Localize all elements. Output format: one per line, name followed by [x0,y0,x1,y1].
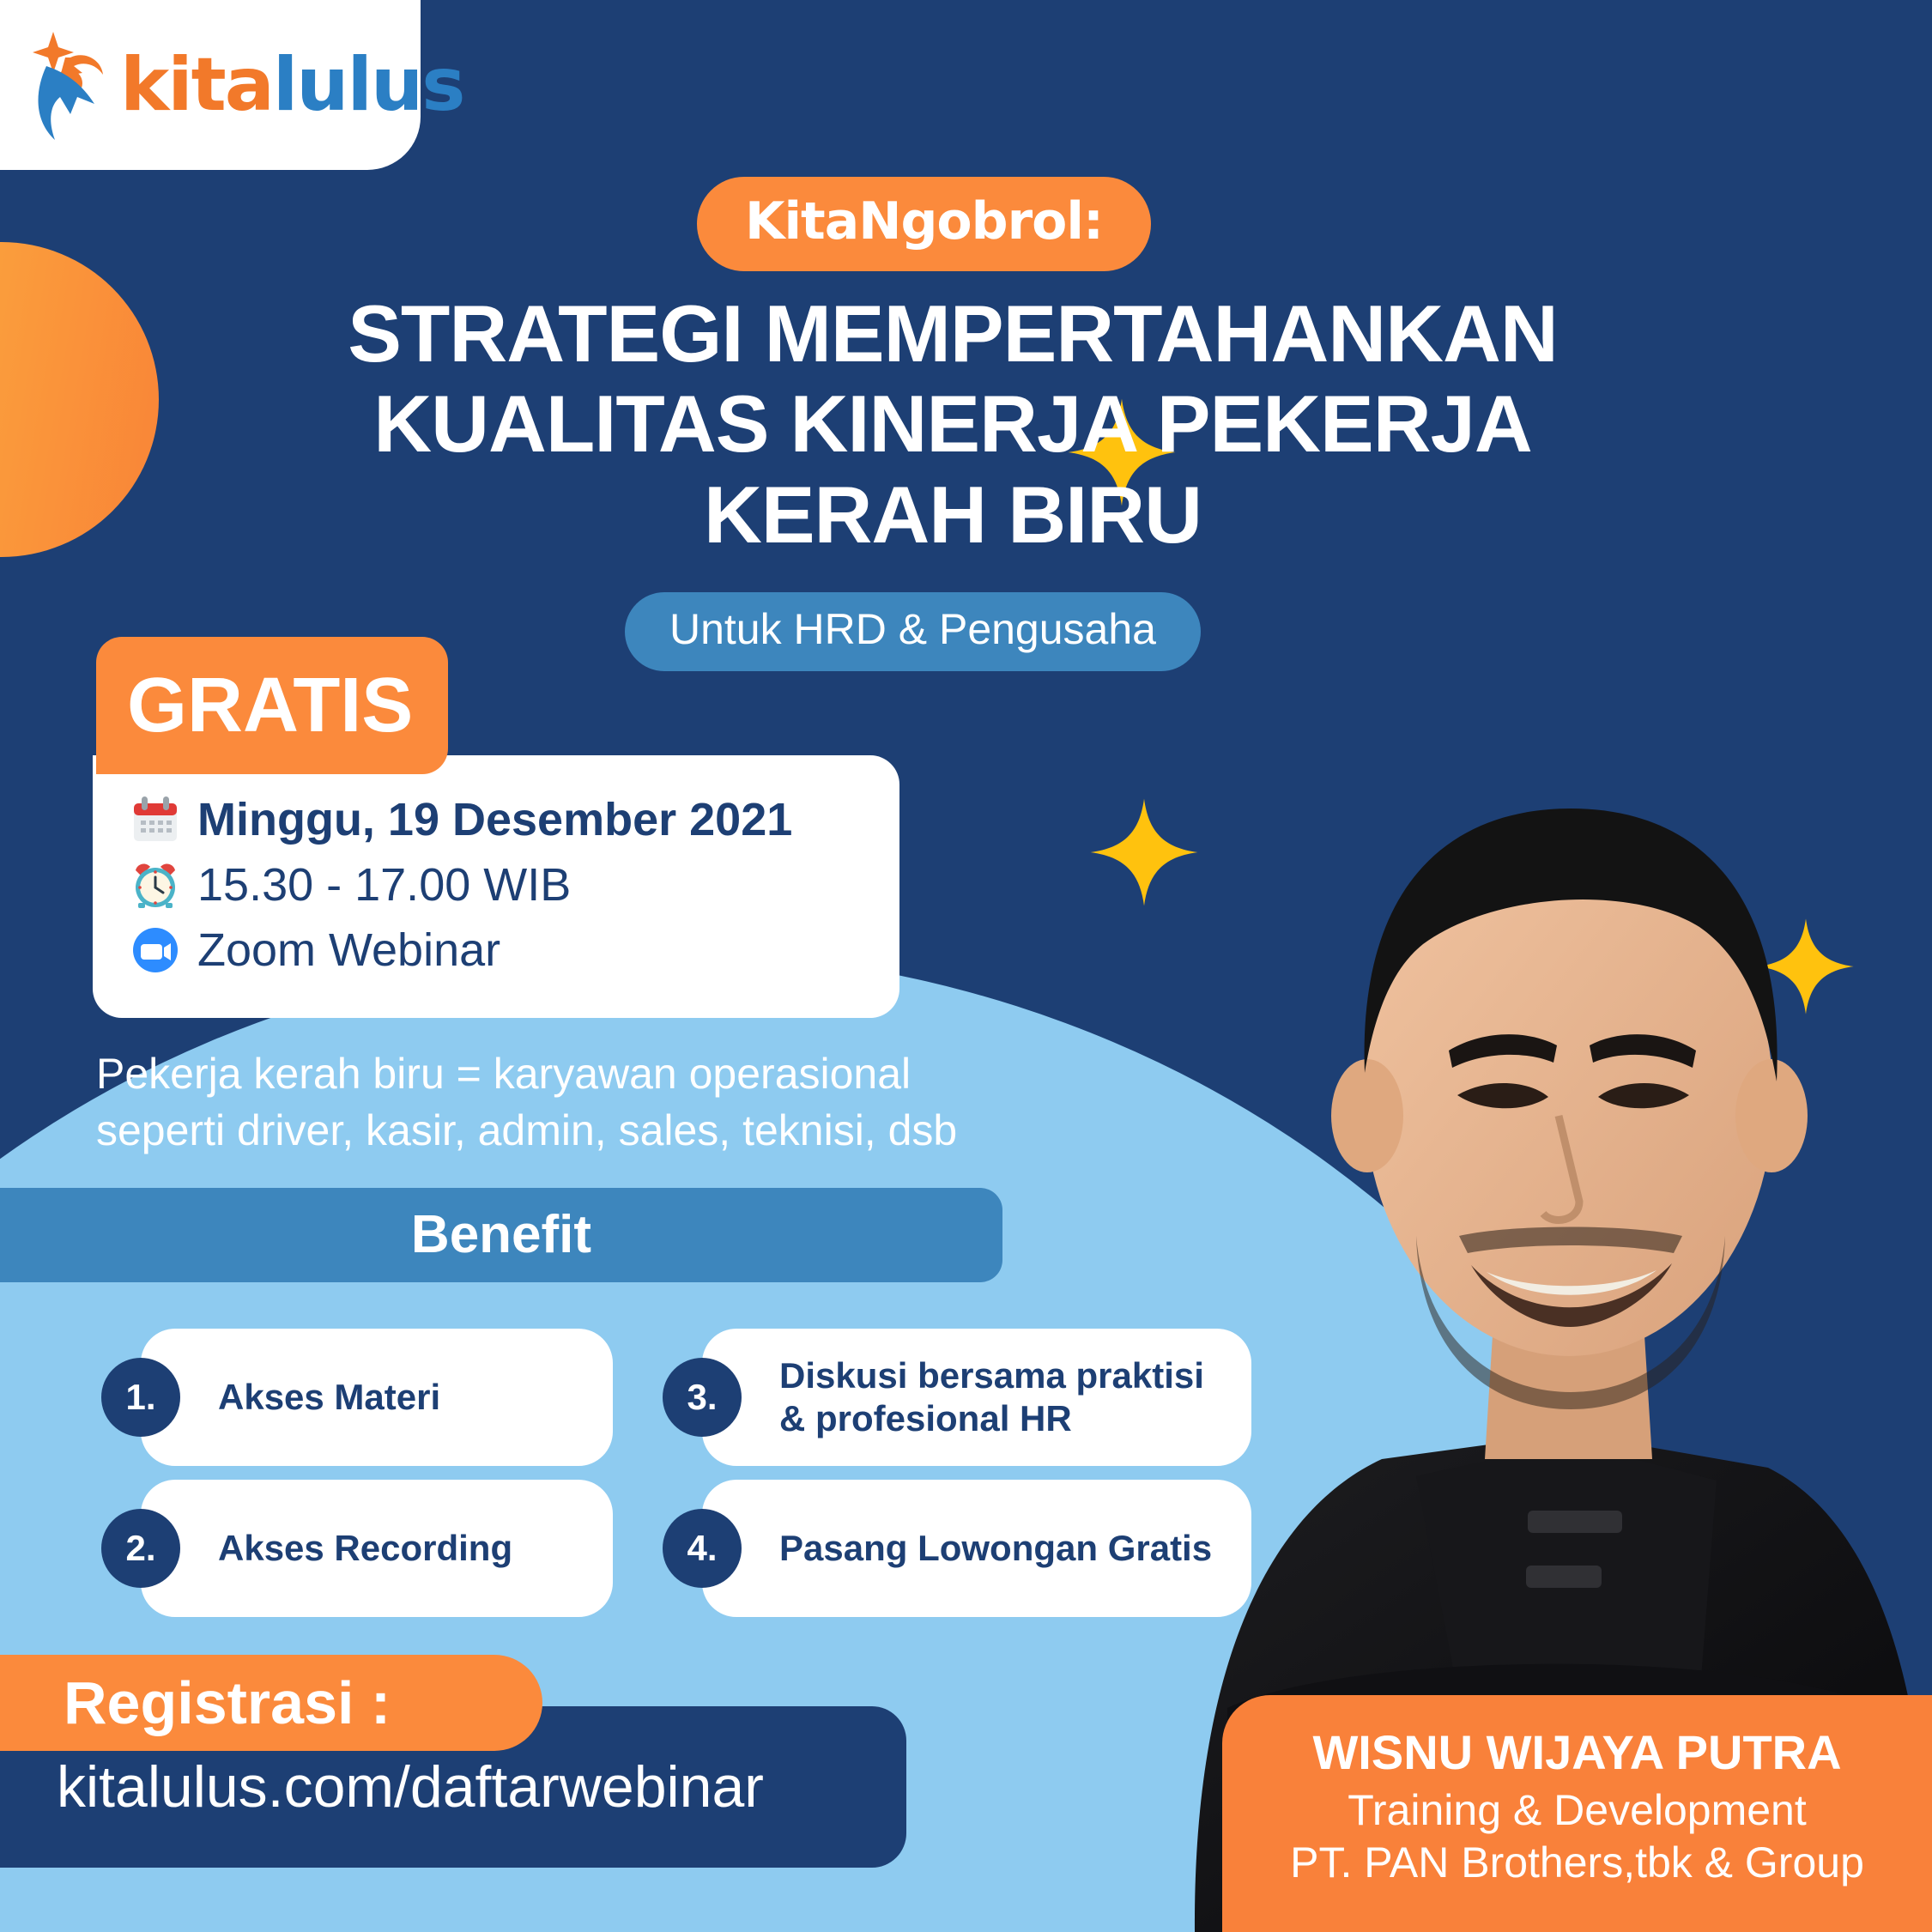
benefit-number-2: 2. [101,1509,180,1588]
webinar-poster: kitalulus KitaNgobrol: STRATEGI MEMPERTA… [0,0,1932,1932]
page-title: STRATEGI MEMPERTAHANKAN KUALITAS KINERJA… [249,288,1656,560]
benefit-heading-label: Benefit [411,1208,591,1262]
logo-text-lulus: lulus [273,42,464,128]
benefit-label-3: Diskusi bersama praktisi & profesional H… [779,1354,1251,1441]
title-line-1: STRATEGI MEMPERTAHANKAN [249,288,1656,379]
benefit-number-4: 4. [663,1509,742,1588]
event-platform-text: Zoom Webinar [197,926,500,975]
series-badge: KitaNgobrol: [697,177,1151,271]
event-info-card: Minggu, 19 Desember 2021 [93,755,899,1018]
event-date-text: Minggu, 19 Desember 2021 [197,796,792,845]
title-line-3: KERAH BIRU [249,469,1656,560]
event-info-row-date: Minggu, 19 Desember 2021 [129,793,899,846]
alarm-clock-icon [129,858,182,911]
calendar-icon [129,793,182,846]
benefit-number-3: 3. [663,1358,742,1437]
event-time-text: 15.30 - 17.00 WIB [197,861,571,910]
description-block: Pekerja kerah biru = karyawan operasiona… [96,1045,1092,1159]
audience-pill: Untuk HRD & Pengusaha [625,592,1201,671]
speaker-name: WISNU WIJAYA PUTRA [1312,1726,1841,1779]
benefit-card-1: 1. Akses Materi [141,1329,613,1466]
orange-circle-decoration [0,242,159,557]
speaker-role: Training & Development [1348,1784,1807,1837]
description-line-1: Pekerja kerah biru = karyawan operasiona… [96,1045,1092,1102]
price-badge-label: GRATIS [127,667,413,744]
speaker-company: PT. PAN Brothers,tbk & Group [1290,1837,1864,1889]
description-line-2: seperti driver, kasir, admin, sales, tek… [96,1102,1092,1159]
brand-logo-bar: kitalulus [0,0,421,170]
event-info-row-platform: Zoom Webinar [129,924,899,977]
title-line-2: KUALITAS KINERJA PEKERJA [249,379,1656,469]
registration-label-badge: Registrasi : [0,1655,542,1751]
price-badge: GRATIS [96,637,448,774]
benefit-number-1: 1. [101,1358,180,1437]
registration-label: Registrasi : [64,1673,391,1733]
speaker-info-panel: WISNU WIJAYA PUTRA Training & Developmen… [1222,1695,1932,1932]
benefit-label-1: Akses Materi [218,1376,461,1419]
benefit-label-4: Pasang Lowongan Gratis [779,1527,1232,1570]
benefit-card-4: 4. Pasang Lowongan Gratis [702,1480,1251,1617]
kitalulus-rocket-icon [22,25,115,145]
event-info-row-time: 15.30 - 17.00 WIB [129,858,899,911]
registration-url[interactable]: kitalulus.com/daftarwebinar [57,1758,764,1816]
benefit-card-2: 2. Akses Recording [141,1480,613,1617]
logo-text-kita: kita [120,42,273,128]
benefit-section-header: Benefit [0,1188,1002,1282]
brand-logo-text: kitalulus [120,48,463,122]
benefit-label-2: Akses Recording [218,1527,533,1570]
benefit-card-3: 3. Diskusi bersama praktisi & profesiona… [702,1329,1251,1466]
zoom-video-icon [129,924,182,977]
